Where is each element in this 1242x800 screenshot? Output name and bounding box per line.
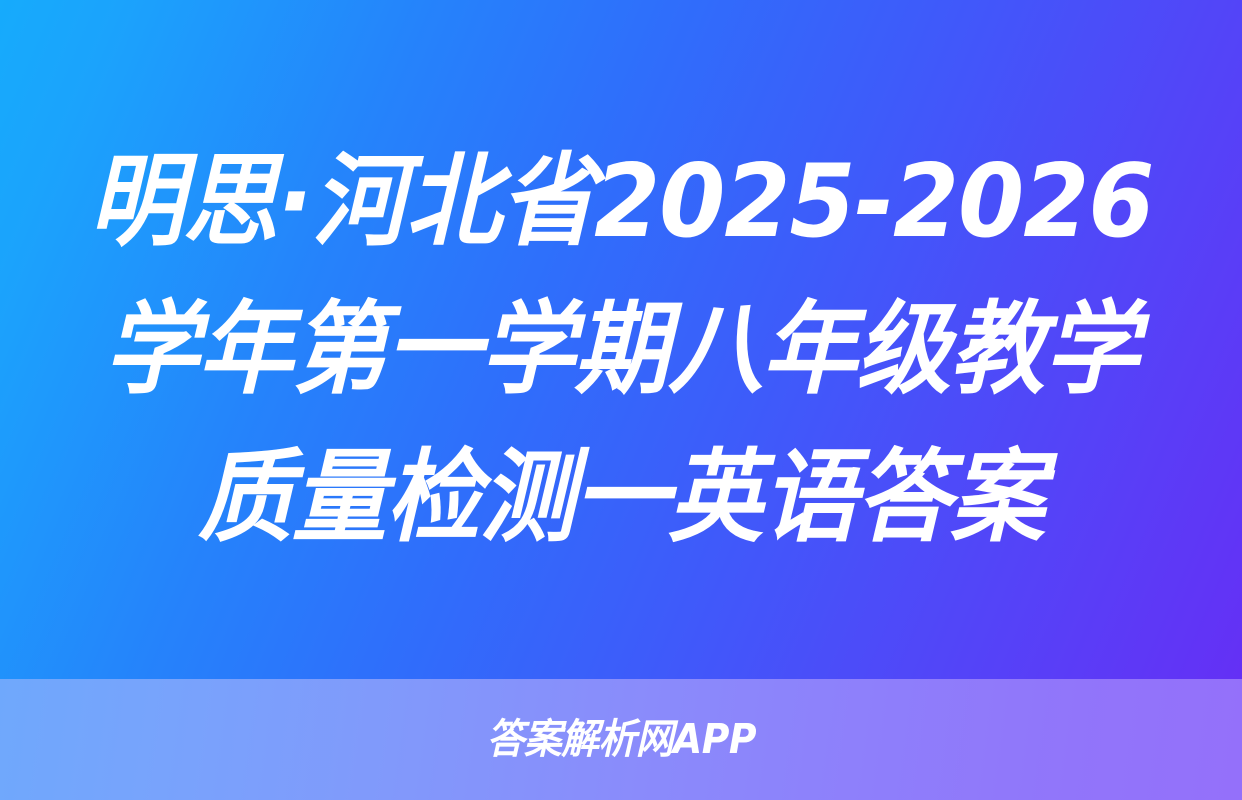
footer-wordmark: 答案解析网APP: [0, 679, 1242, 800]
headline-line-1: 明思·河北省2025-2026: [89, 127, 1154, 275]
headline-line-3: 质量检测一英语答案: [198, 423, 1044, 571]
headline-line-2: 学年第一学期八年级教学: [104, 275, 1138, 423]
headline-block: 明思·河北省2025-2026 学年第一学期八年级教学 质量检测一英语答案: [0, 0, 1242, 679]
poster-root: 明思·河北省2025-2026 学年第一学期八年级教学 质量检测一英语答案 答案…: [0, 0, 1242, 800]
app-wordmark-label: 答案解析网APP: [486, 719, 755, 760]
